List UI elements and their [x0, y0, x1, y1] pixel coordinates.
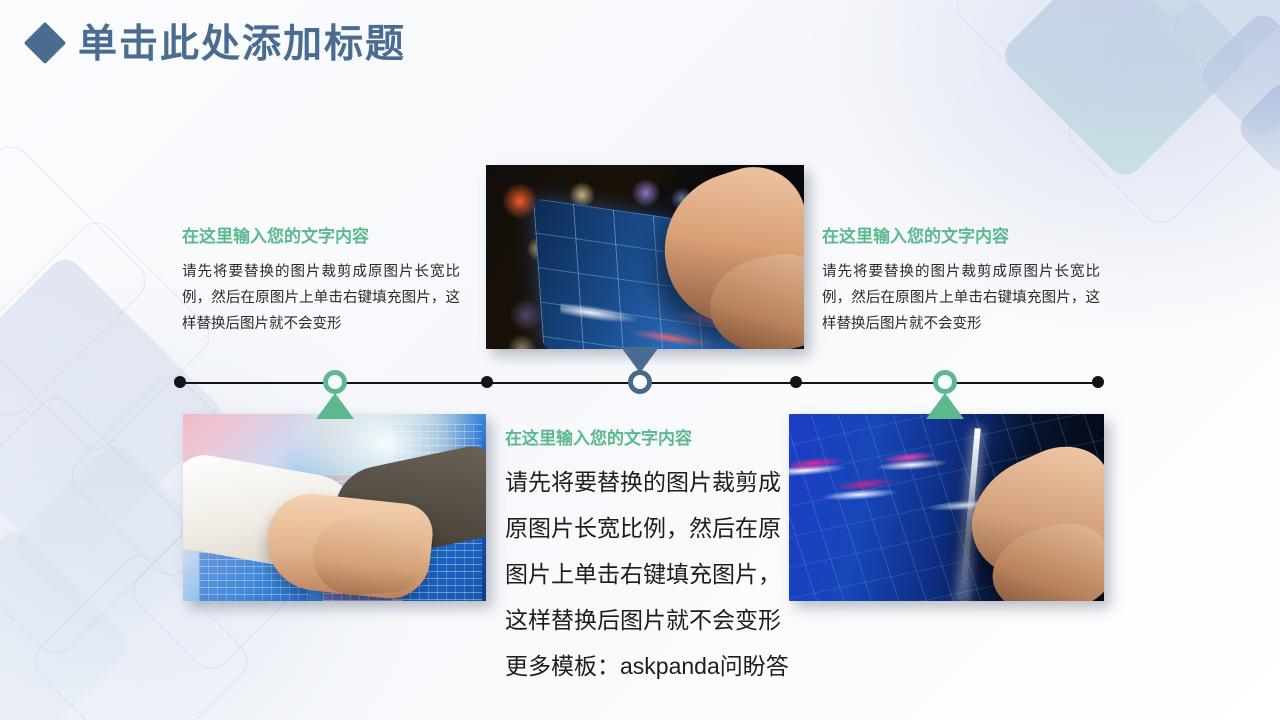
timeline-ring-green-right	[933, 370, 957, 394]
bg-shape	[0, 525, 135, 720]
photo-bottom-right[interactable]	[789, 414, 1104, 601]
timeline-dot-1	[174, 376, 186, 388]
pointer-triangle-down	[621, 347, 659, 373]
bg-shape-outline	[0, 390, 192, 662]
text-block-left: 在这里输入您的文字内容 请先将要替换的图片裁剪成原图片长宽比例，然后在原图片上单…	[182, 222, 460, 337]
timeline-dot-4	[1092, 376, 1104, 388]
bg-shape-outline	[0, 138, 154, 424]
text-block-center-body: 请先将要替换的图片裁剪成原图片长宽比例，然后在原图片上单击右键填充图片，这样替换…	[505, 459, 793, 689]
timeline-dot-2	[481, 376, 493, 388]
photo-bottom-right-image	[789, 414, 1104, 601]
text-block-left-body: 请先将要替换的图片裁剪成原图片长宽比例，然后在原图片上单击右键填充图片，这样替换…	[182, 259, 460, 337]
text-block-left-heading: 在这里输入您的文字内容	[182, 222, 460, 247]
text-block-center: 在这里输入您的文字内容 请先将要替换的图片裁剪成原图片长宽比例，然后在原图片上单…	[505, 424, 793, 689]
page-title: 单击此处添加标题	[78, 13, 406, 69]
text-block-right-heading: 在这里输入您的文字内容	[822, 222, 1100, 247]
timeline-line	[180, 382, 1098, 384]
text-block-right-body: 请先将要替换的图片裁剪成原图片长宽比例，然后在原图片上单击右键填充图片，这样替换…	[822, 259, 1100, 337]
diamond-icon	[24, 22, 66, 64]
handshake-shape-2	[310, 514, 425, 597]
text-block-center-heading: 在这里输入您的文字内容	[505, 424, 793, 449]
timeline-ring-blue-center	[628, 370, 652, 394]
photo-top-center[interactable]	[486, 165, 804, 349]
photo-top-center-image	[486, 165, 804, 349]
photo-bottom-left-image	[183, 414, 486, 601]
chart-line-magenta	[789, 434, 947, 529]
timeline-ring-green-left	[323, 370, 347, 394]
timeline-dot-3	[790, 376, 802, 388]
text-block-right: 在这里输入您的文字内容 请先将要替换的图片裁剪成原图片长宽比例，然后在原图片上单…	[822, 222, 1100, 337]
photo-bottom-left[interactable]	[183, 414, 486, 601]
slide-canvas: 单击此处添加标题	[0, 0, 1280, 720]
slide-header: 单击此处添加标题	[0, 0, 1280, 92]
bg-shape	[1233, 77, 1280, 179]
